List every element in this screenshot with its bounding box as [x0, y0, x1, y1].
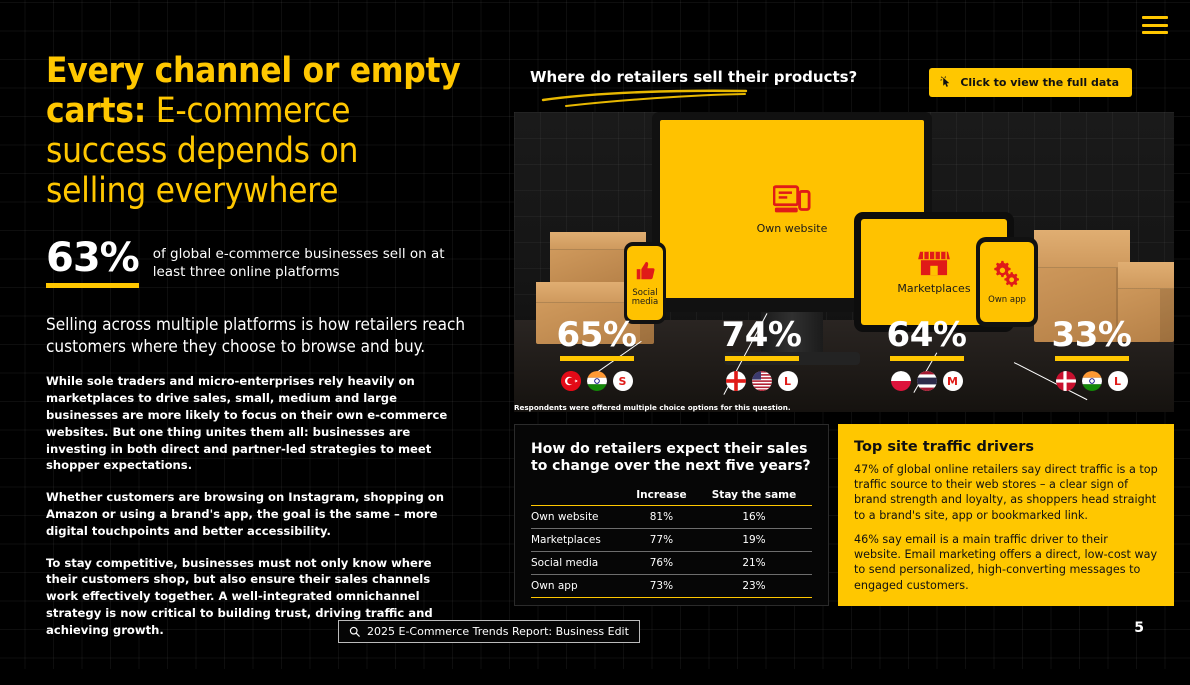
- table-header-increase: Increase: [627, 489, 696, 506]
- body-paragraph-1: While sole traders and micro-enterprises…: [46, 373, 466, 474]
- sales-card-title: How do retailers expect their sales to c…: [531, 441, 812, 475]
- channel-stat-own-app: 33% L: [1009, 318, 1174, 391]
- channel-flags: M: [891, 371, 963, 391]
- table-row: Own website 81% 16%: [531, 506, 812, 529]
- table-cell-same: 23%: [696, 575, 812, 598]
- key-stat: 63% of global e-commerce businesses sell…: [46, 238, 466, 288]
- thumbs-up-icon: [634, 260, 656, 282]
- table-cell-channel: Own website: [531, 506, 627, 529]
- channel-flags: S: [561, 371, 633, 391]
- table-cell-increase: 76%: [627, 552, 696, 575]
- badge-s: S: [613, 371, 633, 391]
- badge-label: L: [784, 375, 791, 388]
- channel-underline: [1055, 356, 1129, 361]
- table-row: Social media 76% 21%: [531, 552, 812, 575]
- channel-percentages: 65% S 74% L: [514, 318, 1174, 391]
- badge-label: L: [1114, 375, 1121, 388]
- key-stat-text: of global e-commerce businesses sell on …: [153, 238, 466, 281]
- sales-table: Increase Stay the same Own website 81% 1…: [531, 489, 812, 598]
- chart-footnote: Respondents were offered multiple choice…: [514, 403, 791, 412]
- traffic-card-paragraph-2: 46% say email is a main traffic driver t…: [854, 532, 1158, 593]
- channel-stat-social-media: 65% S: [514, 318, 679, 391]
- flag-georgia: [726, 371, 746, 391]
- badge-l: L: [1108, 371, 1128, 391]
- table-cell-same: 21%: [696, 552, 812, 575]
- hamburger-menu-icon[interactable]: [1142, 16, 1168, 34]
- flag-united-states: [752, 371, 772, 391]
- table-row: Marketplaces 77% 19%: [531, 529, 812, 552]
- body-paragraph-2: Whether customers are browsing on Instag…: [46, 489, 466, 539]
- table-cell-increase: 73%: [627, 575, 696, 598]
- flag-thailand: [917, 371, 937, 391]
- browser-window-icon: [773, 183, 811, 217]
- device-label-social-media: Social media: [627, 289, 663, 307]
- table-cell-channel: Marketplaces: [531, 529, 627, 552]
- table-cell-channel: Social media: [531, 552, 627, 575]
- table-cell-increase: 77%: [627, 529, 696, 552]
- page-title: Every channel or empty carts: E-commerce…: [46, 52, 466, 212]
- sales-expectations-card: How do retailers expect their sales to c…: [514, 424, 829, 606]
- channel-flags: L: [726, 371, 798, 391]
- flag-india: [1082, 371, 1102, 391]
- shop-awning-icon: [918, 249, 950, 277]
- section-title: Where do retailers sell their products?: [530, 68, 857, 86]
- badge-l: L: [778, 371, 798, 391]
- flag-poland: [891, 371, 911, 391]
- flag-india: [587, 371, 607, 391]
- channel-value: 74%: [722, 318, 802, 352]
- left-column: Every channel or empty carts: E-commerce…: [46, 52, 466, 639]
- channel-underline: [890, 356, 964, 361]
- badge-label: M: [947, 375, 958, 388]
- gears-icon: [992, 260, 1022, 288]
- channel-underline: [725, 356, 799, 361]
- badge-label: S: [619, 375, 627, 388]
- table-cell-same: 19%: [696, 529, 812, 552]
- view-full-data-label: Click to view the full data: [960, 76, 1119, 89]
- channel-flags: L: [1056, 371, 1128, 391]
- table-row: Own app 73% 23%: [531, 575, 812, 598]
- table-header-row: Increase Stay the same: [531, 489, 812, 506]
- cursor-click-icon: [940, 76, 953, 89]
- table-header-same: Stay the same: [696, 489, 812, 506]
- table-cell-same: 16%: [696, 506, 812, 529]
- table-header-channel: [531, 489, 627, 506]
- lede-paragraph: Selling across multiple platforms is how…: [46, 314, 466, 359]
- phone-own-app: Own app: [976, 237, 1038, 327]
- channel-value: 64%: [887, 318, 967, 352]
- device-label-marketplaces: Marketplaces: [897, 283, 970, 295]
- view-full-data-button[interactable]: Click to view the full data: [929, 68, 1132, 97]
- device-label-own-app: Own app: [988, 296, 1026, 305]
- title-underline-squiggle: [540, 88, 750, 110]
- channel-underline: [560, 356, 634, 361]
- traffic-card-title: Top site traffic drivers: [854, 439, 1158, 455]
- table-cell-increase: 81%: [627, 506, 696, 529]
- badge-m: M: [943, 371, 963, 391]
- channel-value: 65%: [557, 318, 637, 352]
- device-label-own-website: Own website: [757, 223, 828, 235]
- channel-stat-own-website: 74% L: [679, 318, 844, 391]
- flag-denmark: [1056, 371, 1076, 391]
- traffic-drivers-card: Top site traffic drivers 47% of global o…: [838, 424, 1174, 606]
- table-cell-channel: Own app: [531, 575, 627, 598]
- body-paragraph-3: To stay competitive, businesses must not…: [46, 555, 466, 639]
- traffic-card-paragraph-1: 47% of global online retailers say direc…: [854, 462, 1158, 523]
- channel-value: 33%: [1052, 318, 1132, 352]
- right-panel: Where do retailers sell their products? …: [500, 0, 1190, 669]
- key-stat-underline: [46, 283, 139, 288]
- flag-turkey: [561, 371, 581, 391]
- channel-stat-marketplaces: 64% M: [844, 318, 1009, 391]
- top-navigation: [1142, 16, 1168, 34]
- phone-social-media: Social media: [624, 242, 666, 324]
- key-stat-number: 63%: [46, 238, 139, 278]
